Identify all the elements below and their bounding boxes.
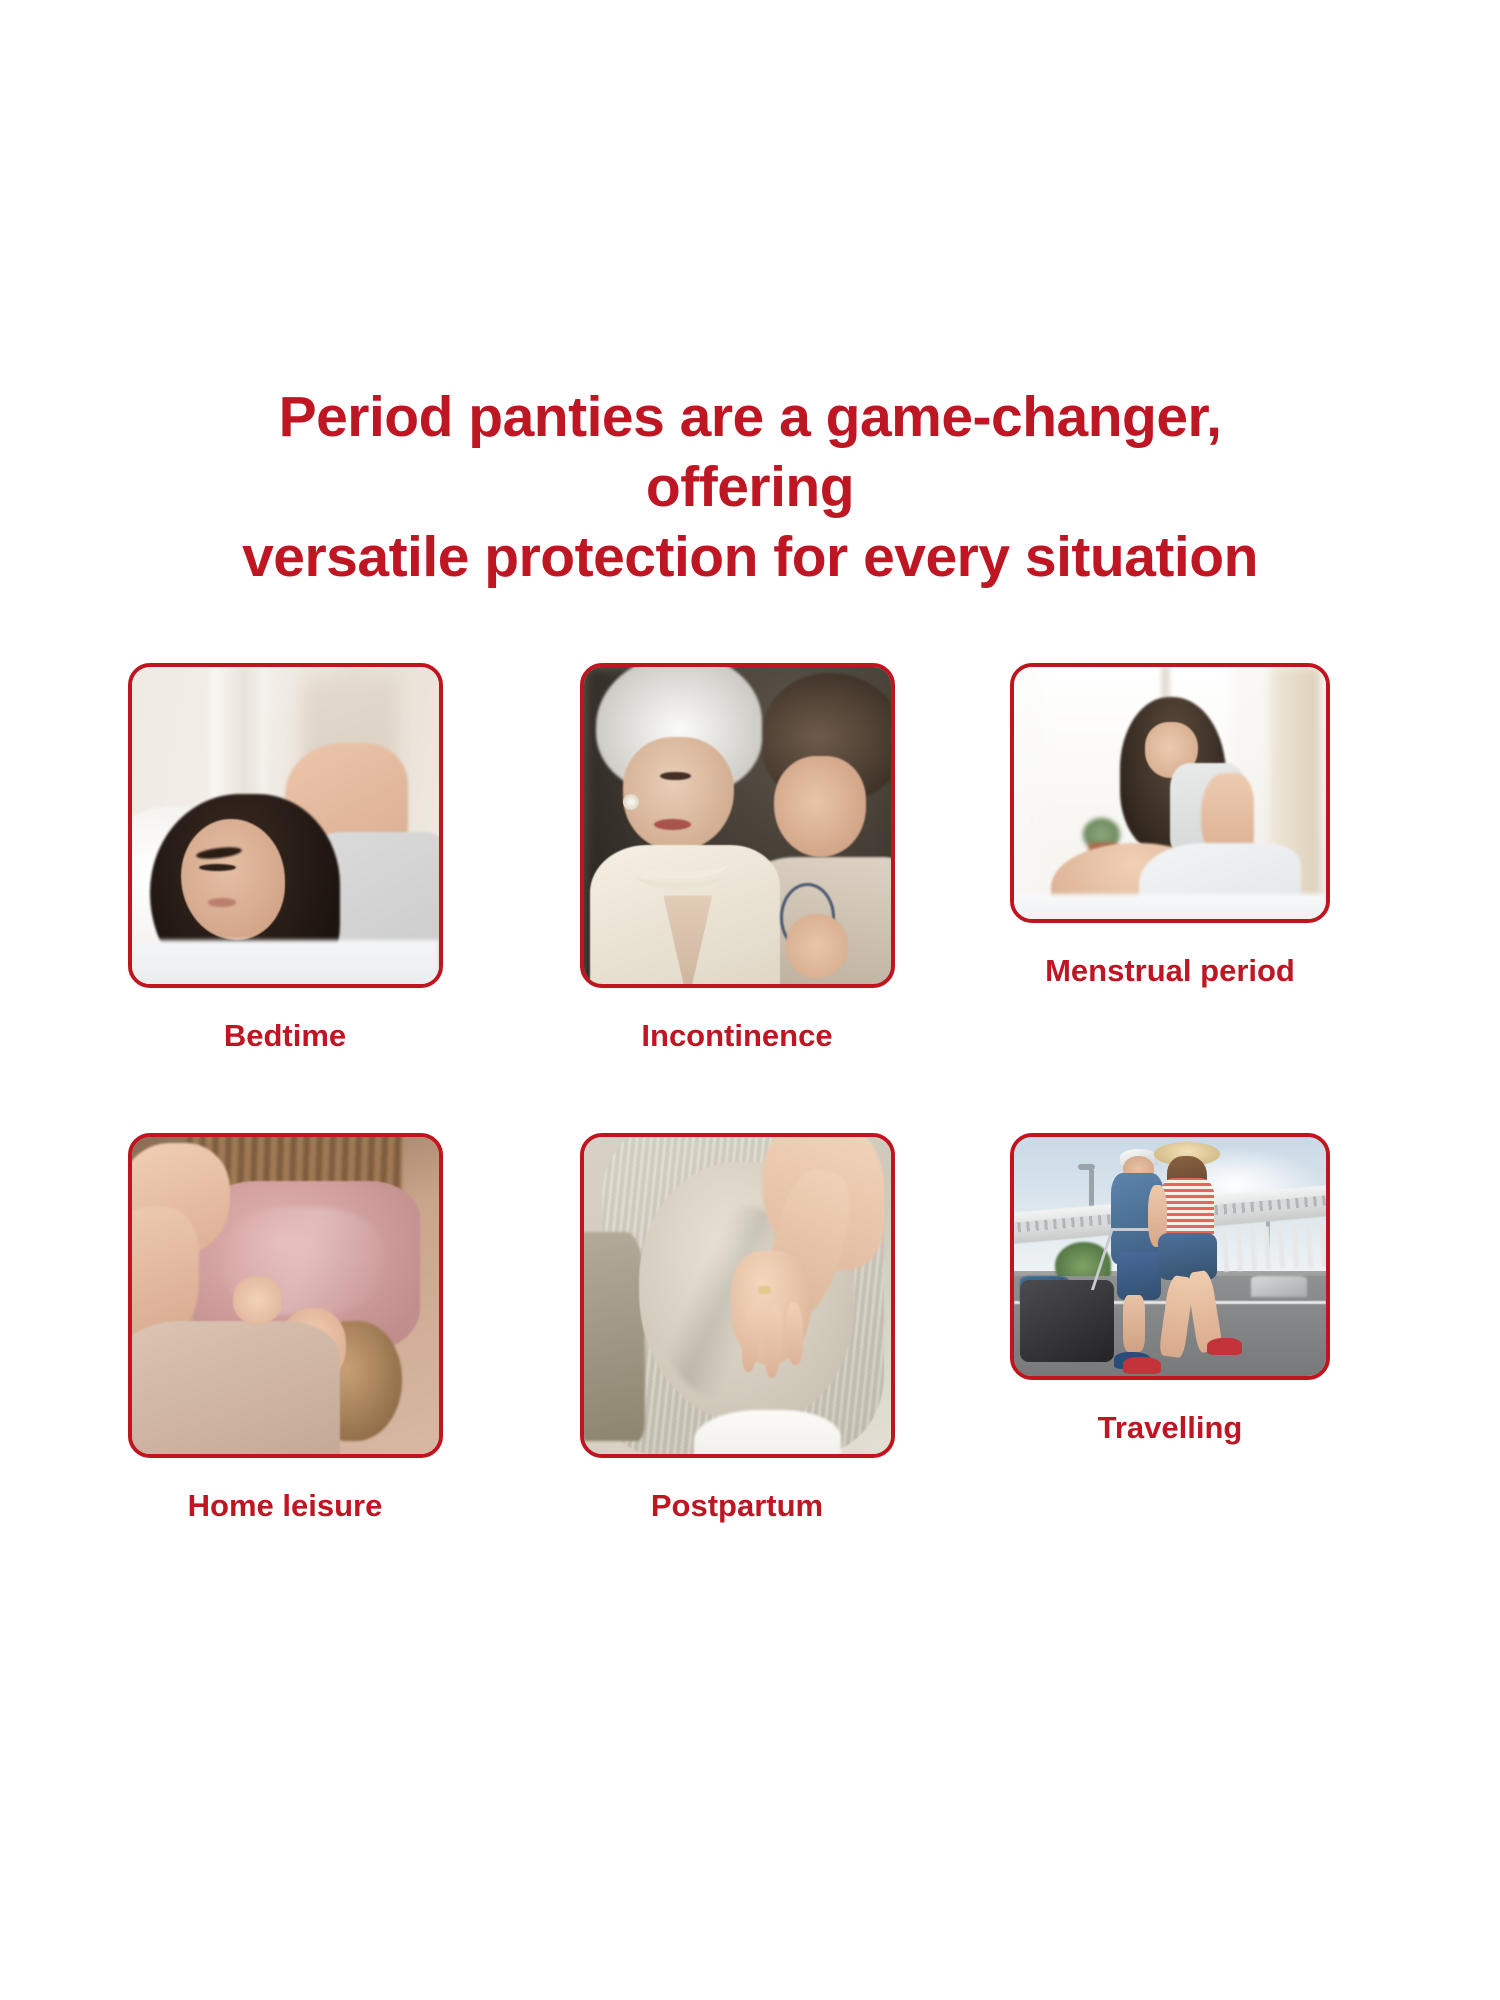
situation-card-grid: Bedtime Incontinence (105, 663, 1405, 1603)
bedtime-photo (132, 667, 439, 984)
card-postpartum[interactable]: Postpartum (557, 1133, 917, 1524)
card-bedtime-label: Bedtime (224, 1018, 346, 1054)
card-postpartum-label: Postpartum (651, 1488, 823, 1524)
card-incontinence-label: Incontinence (641, 1018, 832, 1054)
card-postpartum-frame[interactable] (580, 1133, 895, 1458)
card-incontinence[interactable]: Incontinence (557, 663, 917, 1054)
card-menstrual-period[interactable]: Menstrual period (965, 663, 1375, 989)
home-leisure-photo (132, 1137, 439, 1454)
card-travelling-label: Travelling (1098, 1410, 1243, 1446)
card-travelling-frame[interactable] (1010, 1133, 1330, 1380)
card-home-leisure-label: Home leisure (188, 1488, 383, 1524)
page-title: Period panties are a game-changer, offer… (0, 382, 1500, 592)
card-menstrual-period-frame[interactable] (1010, 663, 1330, 923)
card-row-2: Home leisure Postpartum (105, 1133, 1405, 1603)
card-row-1: Bedtime Incontinence (105, 663, 1405, 1133)
postpartum-photo (584, 1137, 891, 1454)
card-bedtime[interactable]: Bedtime (105, 663, 465, 1054)
menstrual-period-photo (1014, 667, 1326, 919)
travelling-photo (1014, 1137, 1326, 1376)
card-home-leisure[interactable]: Home leisure (105, 1133, 465, 1524)
card-travelling[interactable]: Travelling (965, 1133, 1375, 1446)
card-home-leisure-frame[interactable] (128, 1133, 443, 1458)
card-bedtime-frame[interactable] (128, 663, 443, 988)
card-menstrual-period-label: Menstrual period (1045, 953, 1295, 989)
page-title-line-1: Period panties are a game-changer, offer… (180, 382, 1320, 522)
incontinence-photo (584, 667, 891, 984)
infographic-page: Period panties are a game-changer, offer… (0, 0, 1500, 2000)
page-title-line-2: versatile protection for every situation (180, 522, 1320, 592)
card-incontinence-frame[interactable] (580, 663, 895, 988)
